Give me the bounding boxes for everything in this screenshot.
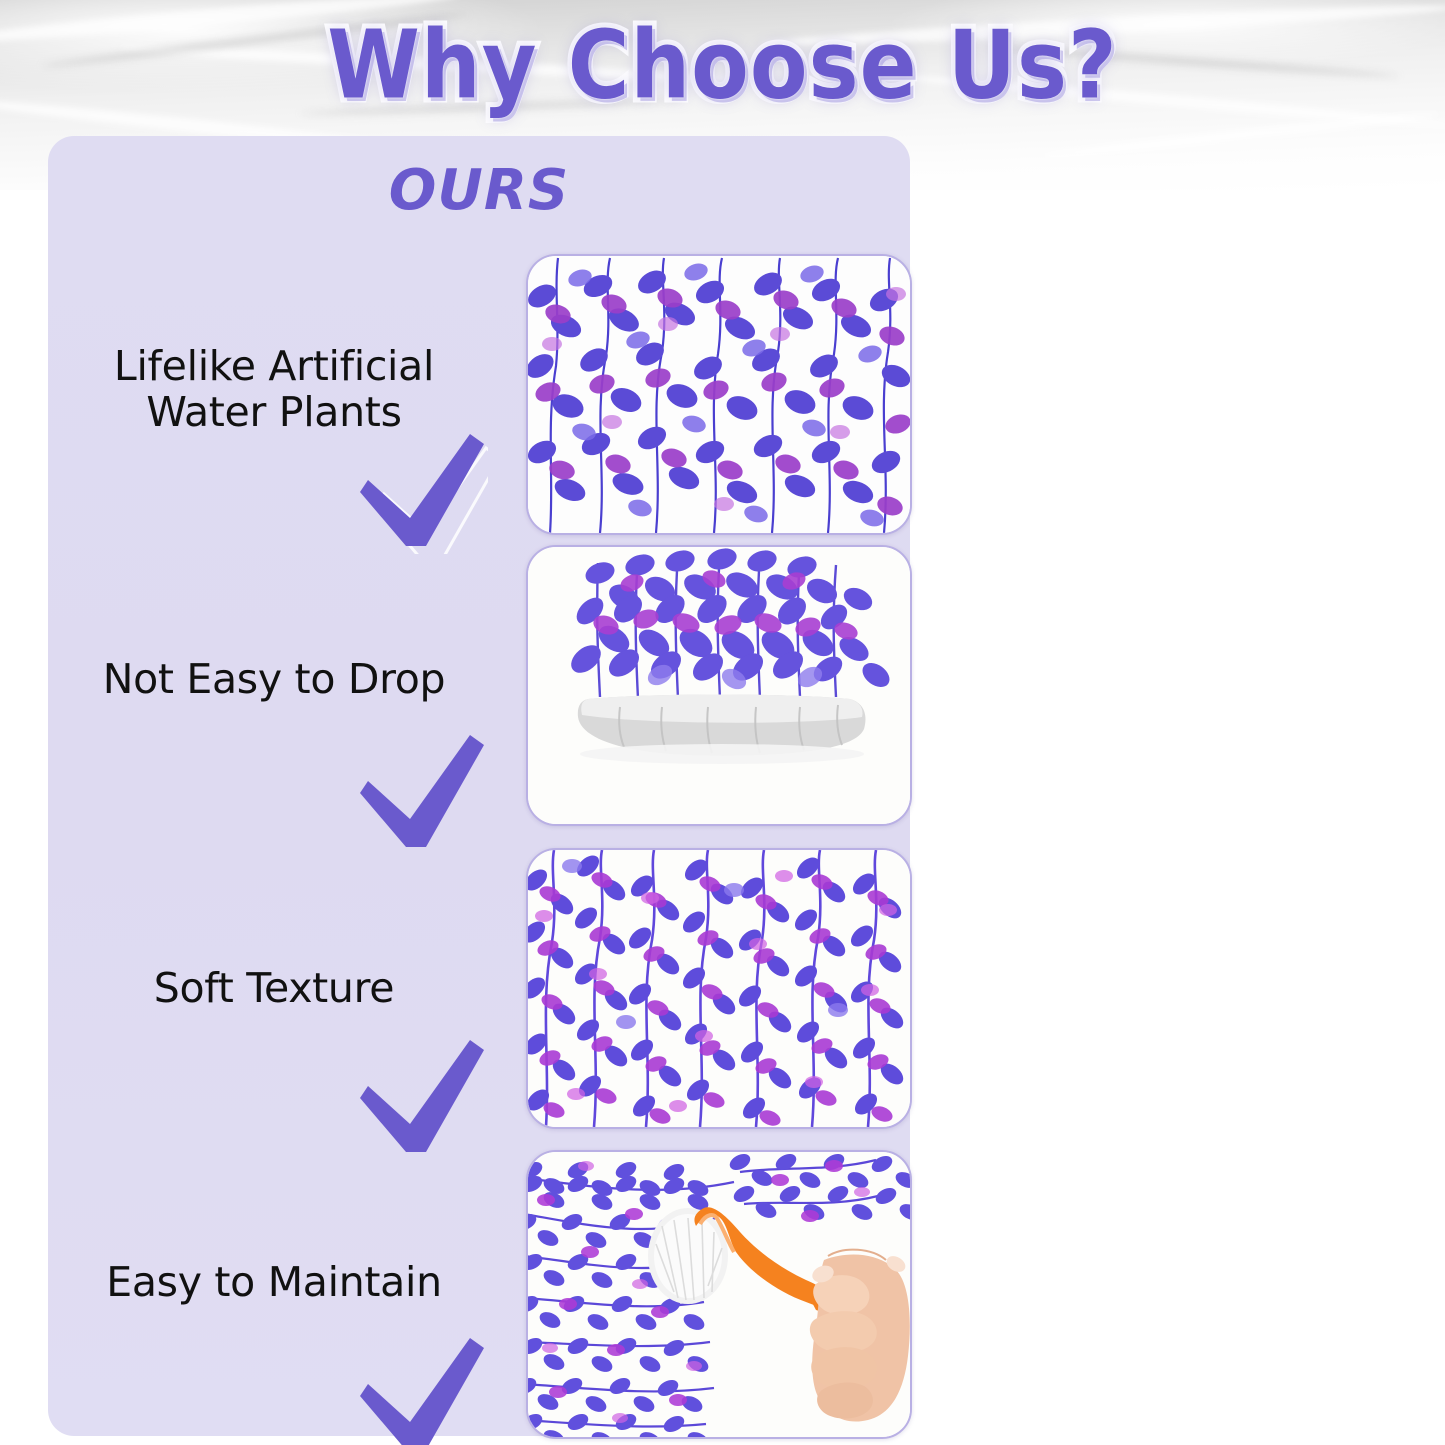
ours-label-4: Easy to Maintain [48, 1260, 500, 1306]
photo-dense-purple-plants [526, 254, 912, 535]
ours-label-3: Soft Texture [48, 966, 500, 1012]
check-icon [348, 434, 488, 554]
x-icon [1218, 742, 1314, 834]
ours-row-3: Soft Texture [48, 848, 910, 1140]
ours-row-2: Not Easy to Drop [48, 545, 910, 837]
ours-row-1: Lifelike Artificial Water Plants [48, 248, 910, 540]
infographic-root: Why Choose Us? OURS Lifelike Artificial … [0, 0, 1445, 1445]
ours-label-1: Lifelike Artificial Water Plants [48, 344, 500, 436]
ours-label-3-line1: Soft Texture [48, 966, 500, 1012]
ours-label-1-line1: Lifelike Artificial [48, 344, 500, 390]
ours-label-4-line1: Easy to Maintain [48, 1260, 500, 1306]
others-label-3: Sharp Edges [944, 1028, 1162, 1068]
ours-label-2: Not Easy to Drop [48, 657, 500, 703]
check-icon [348, 1338, 488, 1445]
others-label-2: Fragile and Easy to Drop [944, 868, 1368, 908]
check-icon [348, 735, 488, 855]
ours-heading: OURS [48, 158, 910, 223]
check-icon [348, 1040, 488, 1160]
photo-weighted-base [526, 545, 912, 826]
ours-label-2-line1: Not Easy to Drop [48, 657, 500, 703]
photo-hand-brush-cleaning [526, 1150, 912, 1439]
x-icon [1228, 1226, 1324, 1318]
ours-label-1-line2: Water Plants [48, 390, 500, 436]
x-icon [1146, 1066, 1242, 1158]
others-label-1: Lack of Realism [944, 708, 1215, 748]
ours-row-4: Easy to Maintain [48, 1150, 910, 1442]
others-label-4: Difficult to Maintain [944, 1188, 1284, 1228]
x-icon [1306, 906, 1402, 998]
photo-soft-leaves [526, 848, 912, 1129]
